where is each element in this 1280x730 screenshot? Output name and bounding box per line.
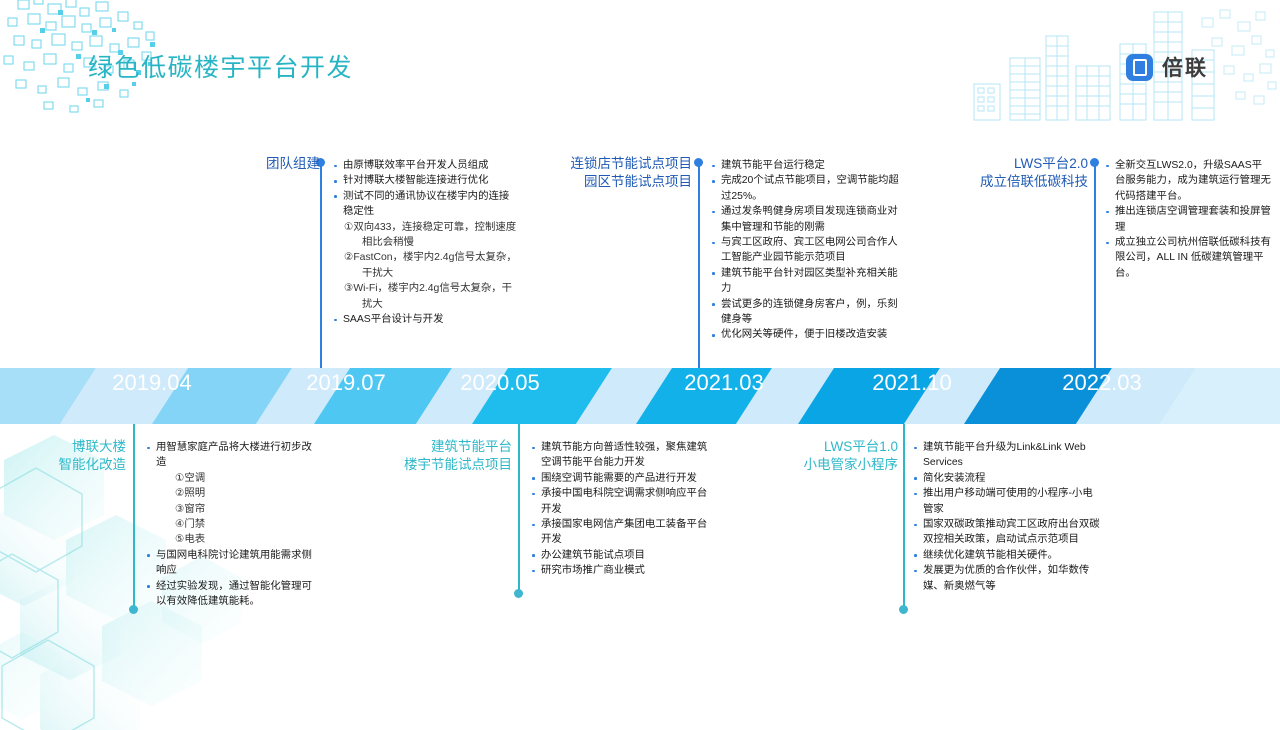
list-item-sub: ③Wi-Fi，楼宇内2.4g信号太复杂，干扰大 [332, 281, 518, 312]
list-item: 承接中国电科院空调需求侧响应平台开发 [530, 486, 712, 517]
list-item: 发展更为优质的合作伙伴，如华数传媒、新奥燃气等 [912, 563, 1102, 594]
date-2019-04: 2019.04 [100, 370, 204, 396]
timeline-entry-team-build: 团队组建 [200, 155, 320, 173]
list-item: 优化网关等硬件，便于旧楼改造安装 [710, 327, 902, 342]
city-skyline-icon [950, 0, 1280, 124]
list-item: 建筑节能平台升级为Link&Link Web Services [912, 440, 1102, 471]
timeline-entry-building-energy-platform: 建筑节能平台 楼宇节能试点项目 [380, 438, 512, 474]
list-item: 与宾工区政府、宾工区电网公司合作人工智能产业园节能示范项目 [710, 235, 902, 266]
list-item: 成立独立公司杭州倍联低碳科技有限公司，ALL IN 低碳建筑管理平台。 [1104, 235, 1272, 281]
timeline-entry-lws-platform-1: LWS平台1.0 小电管家小程序 [770, 438, 898, 474]
list-item-sub: ①双向433，连接稳定可靠，控制速度相比会稍慢 [332, 220, 518, 251]
list-item: 用智慧家庭产品将大楼进行初步改造 [145, 440, 315, 471]
list-item: 针对博联大楼智能连接进行优化 [332, 173, 518, 188]
timeline-entry-bolian-building-smart: 博联大楼 智能化改造 [22, 438, 126, 474]
date-2021-10: 2021.10 [860, 370, 964, 396]
timeline-node-lws-platform-1 [899, 605, 908, 614]
entry-bullets-chain-park-pilot: 建筑节能平台运行稳定 完成20个试点节能项目，空调节能均超过25%。 通过发条鸭… [710, 158, 902, 343]
list-item: 研究市场推广商业模式 [530, 563, 712, 578]
list-item: 国家双碳政策推动宾工区政府出台双碳双控相关政策，启动试点示范项目 [912, 517, 1102, 548]
date-2019-07: 2019.07 [294, 370, 398, 396]
timeline-stalk-lws-platform-2 [1094, 165, 1096, 368]
list-item: 推出连锁店空调管理套装和投屏管理 [1104, 204, 1272, 235]
list-item: 经过实验发现，通过智能化管理可以有效降低建筑能耗。 [145, 579, 315, 610]
list-item: SAAS平台设计与开发 [332, 312, 518, 327]
list-item-sub: ④门禁 [145, 517, 315, 532]
entry-heading: 连锁店节能试点项目 园区节能试点项目 [516, 155, 692, 191]
list-item: 测试不同的通讯协议在楼宇内的连接稳定性 [332, 189, 518, 220]
entry-heading: 团队组建 [200, 155, 320, 173]
date-2021-03: 2021.03 [672, 370, 776, 396]
entry-bullets-building-energy-platform: 建筑节能方向普适性较强，聚焦建筑空调节能平台能力开发 围绕空调节能需要的产品进行… [530, 440, 712, 579]
timeline-stalk-chain-park-pilot [698, 165, 700, 368]
list-item: 继续优化建筑节能相关硬件。 [912, 548, 1102, 563]
entry-heading: 建筑节能平台 楼宇节能试点项目 [380, 438, 512, 474]
timeline-stalk-lws-platform-1 [903, 424, 905, 609]
list-item: 围绕空调节能需要的产品进行开发 [530, 471, 712, 486]
timeline-stalk-team-build [320, 165, 322, 368]
list-item-sub: ②FastCon，楼宇内2.4g信号太复杂，干扰大 [332, 250, 518, 281]
list-item: 建筑节能方向普适性较强，聚焦建筑空调节能平台能力开发 [530, 440, 712, 471]
list-item-sub: ②照明 [145, 486, 315, 501]
timeline-entry-chain-park-pilot: 连锁店节能试点项目 园区节能试点项目 [516, 155, 692, 191]
entry-bullets-lws-platform-2: 全新交互LWS2.0，升级SAAS平台服务能力，成为建筑运行管理无代码搭建平台。… [1104, 158, 1272, 281]
brand-name: 倍联 [1162, 52, 1208, 82]
list-item: 建筑节能平台针对园区类型补充相关能力 [710, 266, 902, 297]
list-item: 办公建筑节能试点项目 [530, 548, 712, 563]
list-item: 通过发条鸭健身房项目发现连锁商业对集中管理和节能的刚需 [710, 204, 902, 235]
list-item: 由原博联效率平台开发人员组成 [332, 158, 518, 173]
timeline-entry-lws-platform-2: LWS平台2.0 成立倍联低碳科技 [920, 155, 1088, 191]
rounded-square-logo-icon [1126, 54, 1153, 81]
list-item: 建筑节能平台运行稳定 [710, 158, 902, 173]
timeline-node-bolian-building-smart [129, 605, 138, 614]
list-item-sub: ①空调 [145, 471, 315, 486]
list-item: 承接国家电网信产集团电工装备平台开发 [530, 517, 712, 548]
entry-heading: 博联大楼 智能化改造 [22, 438, 126, 474]
entry-heading: LWS平台1.0 小电管家小程序 [770, 438, 898, 474]
list-item-sub: ⑤电表 [145, 532, 315, 547]
entry-heading: LWS平台2.0 成立倍联低碳科技 [920, 155, 1088, 191]
page-header: 绿色低碳楼宇平台开发 倍联 [0, 0, 1280, 128]
page-title: 绿色低碳楼宇平台开发 [88, 48, 353, 84]
list-item: 与国网电科院讨论建筑用能需求侧响应 [145, 548, 315, 579]
date-2022-03: 2022.03 [1050, 370, 1154, 396]
brand-logo: 倍联 [1126, 52, 1208, 82]
timeline-stalk-bolian-building-smart [133, 424, 135, 609]
list-item-sub: ③窗帘 [145, 502, 315, 517]
list-item: 全新交互LWS2.0，升级SAAS平台服务能力，成为建筑运行管理无代码搭建平台。 [1104, 158, 1272, 204]
entry-bullets-team-build: 由原博联效率平台开发人员组成 针对博联大楼智能连接进行优化 测试不同的通讯协议在… [332, 158, 518, 327]
timeline-stalk-building-energy-platform [518, 424, 520, 593]
list-item: 推出用户移动端可使用的小程序-小电管家 [912, 486, 1102, 517]
timeline-node-building-energy-platform [514, 589, 523, 598]
list-item: 完成20个试点节能项目，空调节能均超过25%。 [710, 173, 902, 204]
entry-bullets-bolian-building-smart: 用智慧家庭产品将大楼进行初步改造 ①空调 ②照明 ③窗帘 ④门禁 ⑤电表 与国网… [145, 440, 315, 609]
list-item: 尝试更多的连锁健身房客户，例，乐刻健身等 [710, 297, 902, 328]
list-item: 简化安装流程 [912, 471, 1102, 486]
date-2020-05: 2020.05 [448, 370, 552, 396]
entry-bullets-lws-platform-1: 建筑节能平台升级为Link&Link Web Services 简化安装流程 推… [912, 440, 1102, 594]
